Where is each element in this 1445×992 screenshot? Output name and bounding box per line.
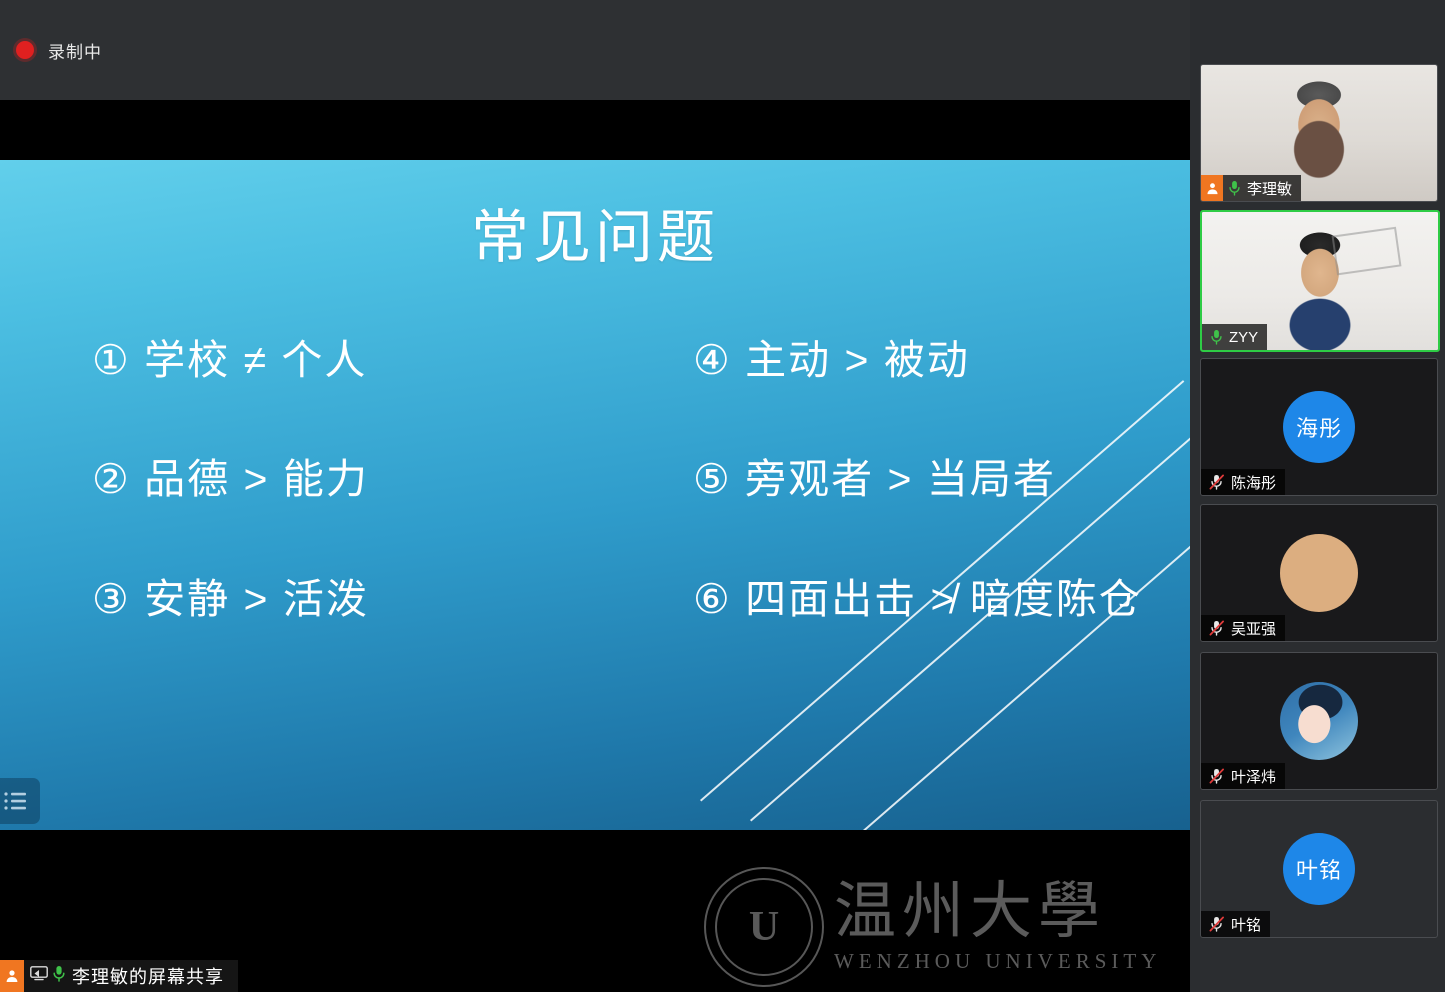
participant-name: 叶泽炜: [1231, 766, 1276, 787]
participant-tile[interactable]: 吴亚强: [1200, 504, 1438, 642]
microphone-muted-icon: [1209, 620, 1225, 636]
participant-name: ZYY: [1229, 329, 1258, 346]
avatar: [1280, 534, 1358, 612]
microphone-muted-icon: [1209, 474, 1225, 490]
participant-nameplate: 吴亚强: [1201, 615, 1285, 641]
recording-toolbar: 录制中: [0, 0, 1190, 100]
microphone-muted-icon: [1209, 916, 1225, 932]
host-person-icon: [1201, 175, 1223, 201]
participant-tile[interactable]: 叶铭 叶铭: [1200, 800, 1438, 938]
avatar-initials: 叶铭: [1296, 853, 1342, 885]
microphone-on-icon: [1210, 329, 1223, 345]
screen-share-status-label: 李理敏的屏幕共享: [72, 963, 224, 989]
microphone-on-icon: [1228, 180, 1241, 196]
participant-tile[interactable]: 李理敏: [1200, 64, 1438, 202]
slide-title: 常见问题: [0, 190, 1190, 274]
slide-bullet-grid: ① 学校 ≠ 个人 ④ 主动 > 被动 ② 品德 > 能力 ⑤ 旁观者 > 当局…: [0, 335, 1190, 625]
screen-share-status-bar: 李理敏的屏幕共享: [0, 960, 238, 992]
participant-tile[interactable]: 海彤 陈海彤: [1200, 358, 1438, 496]
avatar: 海彤: [1283, 391, 1355, 463]
microphone-icon: [52, 965, 66, 987]
slide-bullet-item: ⑤ 旁观者 > 当局者: [595, 454, 1190, 505]
participant-name: 李理敏: [1247, 178, 1292, 199]
slide-bullet-item: ② 品德 > 能力: [0, 454, 595, 505]
avatar: 叶铭: [1283, 833, 1355, 905]
participant-nameplate: 叶铭: [1201, 911, 1270, 937]
screen-share-icon: [30, 966, 48, 986]
participant-tile[interactable]: 叶泽炜: [1200, 652, 1438, 790]
slide-bullet-item: ③ 安静 > 活泼: [0, 574, 595, 625]
participant-tile[interactable]: ZYY: [1200, 210, 1440, 352]
participant-name: 叶铭: [1231, 914, 1261, 935]
presentation-slide: 常见问题 ① 学校 ≠ 个人 ④ 主动 > 被动 ② 品德 > 能力 ⑤ 旁观者…: [0, 160, 1190, 830]
meeting-window: 录制中 常见问题 ① 学校 ≠ 个人 ④ 主动 > 被动 ② 品德 > 能力 ⑤…: [0, 0, 1445, 992]
share-status-icons: [30, 965, 66, 987]
slide-bullet-item: ① 学校 ≠ 个人: [0, 335, 595, 386]
recording-indicator-dot: [16, 41, 34, 59]
avatar-initials: 海彤: [1296, 411, 1342, 443]
participant-name: 吴亚强: [1231, 618, 1276, 639]
slide-bullet-item: ④ 主动 > 被动: [595, 335, 1190, 386]
participant-nameplate: 陈海彤: [1201, 469, 1285, 495]
list-menu-icon[interactable]: [0, 778, 40, 824]
slide-bullet-item: ⑥ 四面出击 ≯ 暗度陈仓: [595, 574, 1190, 625]
letterbox-top: [0, 100, 1190, 160]
shared-screen-region: 录制中 常见问题 ① 学校 ≠ 个人 ④ 主动 > 被动 ② 品德 > 能力 ⑤…: [0, 0, 1190, 992]
participant-name: 陈海彤: [1231, 472, 1276, 493]
avatar-image: [1280, 534, 1358, 612]
participant-panel: 李理敏 ZYY 海彤: [1190, 0, 1445, 992]
avatar-image: [1280, 682, 1358, 760]
participant-nameplate: ZYY: [1202, 324, 1267, 350]
avatar: [1280, 682, 1358, 760]
recording-label: 录制中: [48, 38, 102, 63]
host-person-icon: [0, 960, 24, 992]
participant-nameplate: 叶泽炜: [1201, 763, 1285, 789]
microphone-muted-icon: [1209, 768, 1225, 784]
participant-nameplate: 李理敏: [1201, 175, 1301, 201]
